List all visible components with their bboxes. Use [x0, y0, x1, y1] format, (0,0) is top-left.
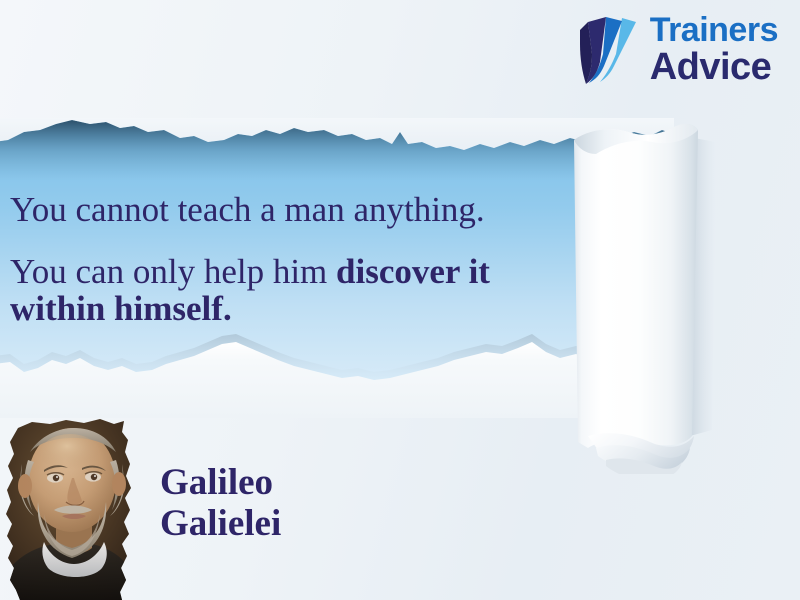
open-book-icon [578, 14, 640, 86]
rolled-paper-curl [566, 124, 756, 474]
quote-line-3: within himself. [10, 291, 610, 327]
quote-line-2-bold: discover it [336, 252, 490, 291]
quote-block: You cannot teach a man anything. You can… [10, 192, 610, 327]
brand-line-1: Trainers [650, 14, 778, 47]
brand-wordmark: Trainers Advice [650, 14, 778, 85]
quote-line-2: You can only help him discover it [10, 254, 610, 290]
rolled-paper-graphic [566, 124, 756, 474]
brand-logo[interactable]: Trainers Advice [578, 14, 778, 86]
attribution-last-name: Galielei [160, 503, 281, 544]
attribution-block: Galileo Galielei [160, 462, 281, 545]
galileo-portrait [4, 418, 140, 600]
attribution-first-name: Galileo [160, 462, 281, 503]
quote-line-1: You cannot teach a man anything. [10, 192, 610, 228]
brand-line-2: Advice [650, 49, 778, 85]
quote-poster: You cannot teach a man anything. You can… [0, 0, 800, 600]
quote-line-2-plain: You can only help him [10, 252, 336, 291]
galileo-portrait-graphic [4, 418, 140, 600]
